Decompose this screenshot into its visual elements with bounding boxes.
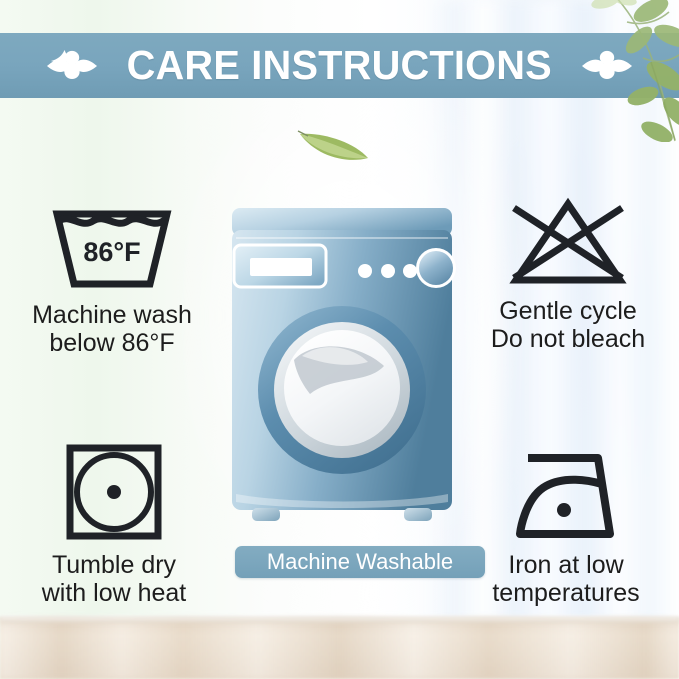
care-icon-container: [456, 446, 676, 542]
care-item-iron-low: Iron at low temperatures: [456, 446, 676, 607]
fleur-de-lis-icon: [581, 42, 633, 90]
care-item-machine-wash: 86°F Machine wash below 86°F: [2, 196, 222, 357]
care-icon-container: [4, 446, 224, 542]
care-label-tumble-dry: Tumble dry with low heat: [4, 551, 224, 607]
header-banner: CARE INSTRUCTIONS: [0, 33, 679, 98]
badge-label: Machine Washable: [267, 551, 453, 573]
care-instructions-infographic: CARE INSTRUCTIONS: [0, 0, 679, 679]
wash-tub-icon: 86°F: [49, 204, 175, 292]
care-item-tumble-dry: Tumble dry with low heat: [4, 446, 224, 607]
iron-one-dot-icon: [506, 450, 626, 542]
care-icon-container: [458, 192, 678, 288]
care-label-machine-wash: Machine wash below 86°F: [2, 301, 222, 357]
care-label-do-not-bleach: Gentle cycle Do not bleach: [458, 297, 678, 353]
fleur-de-lis-icon: [46, 42, 98, 90]
wash-temperature-value: 86°F: [83, 237, 140, 267]
tumble-dry-square-icon: [64, 442, 164, 542]
washing-machine-illustration: [228, 208, 456, 530]
page-title: CARE INSTRUCTIONS: [127, 45, 552, 86]
triangle-crossed-out-icon: [504, 196, 632, 288]
wooden-table-grain: [0, 617, 679, 679]
machine-washable-badge: Machine Washable: [235, 546, 485, 578]
care-icon-container: 86°F: [2, 196, 222, 292]
care-label-iron-low: Iron at low temperatures: [456, 551, 676, 607]
care-item-do-not-bleach: Gentle cycle Do not bleach: [458, 192, 678, 353]
green-leaf-icon: [296, 122, 372, 166]
wooden-table-edge: [0, 616, 679, 623]
